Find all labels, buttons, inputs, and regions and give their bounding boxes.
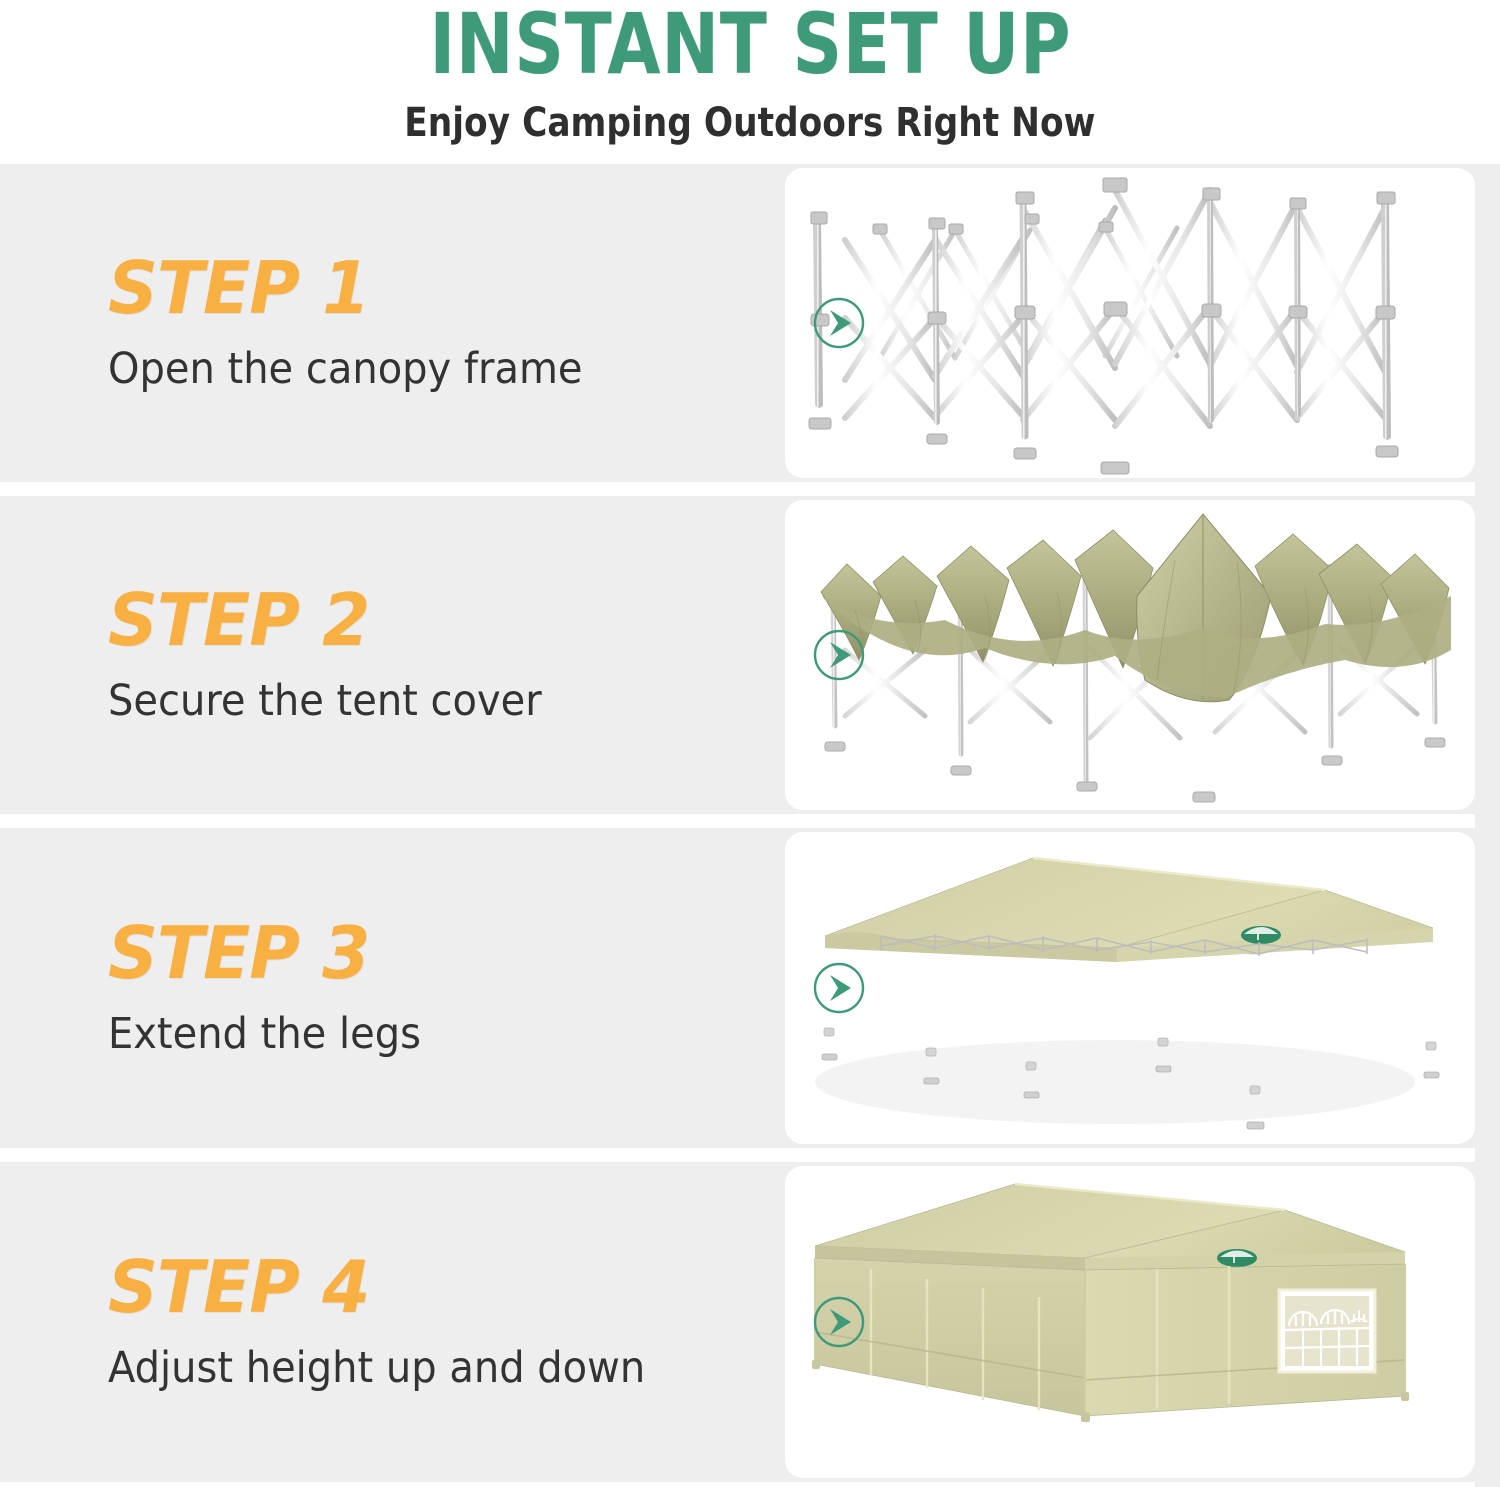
step-3-label: STEP 3: [108, 916, 758, 990]
header: INSTANT SET UP Enjoy Camping Outdoors Ri…: [0, 0, 1500, 164]
canopy-legs-extended-photo: [785, 832, 1475, 1144]
step-3-text: STEP 3 Extend the legs: [0, 916, 785, 1060]
canopy-frame-collapsed-photo: [785, 168, 1475, 478]
step-row-4: STEP 4 Adjust height up and down: [0, 1162, 1500, 1482]
step-1-description: Open the canopy frame: [108, 343, 738, 395]
step-2-image-card: [785, 500, 1475, 810]
step-4-text: STEP 4 Adjust height up and down: [0, 1250, 785, 1394]
step-2-description: Secure the tent cover: [108, 675, 738, 727]
step-4-arrow-icon-wrapper: [813, 1296, 865, 1348]
step-3-description: Extend the legs: [108, 1008, 738, 1060]
page-title: INSTANT SET UP: [429, 2, 1071, 86]
steps-list: STEP 1 Open the canopy frame: [0, 164, 1500, 1482]
right-edge-strip: [1475, 164, 1500, 1487]
step-1-label: STEP 1: [108, 251, 758, 325]
step-4-image-card: [785, 1166, 1475, 1478]
canopy-cover-draped-photo: [785, 500, 1475, 810]
step-row-2: STEP 2 Secure the tent cover: [0, 496, 1500, 814]
chevron-right-circle-icon: [813, 297, 865, 349]
step-1-image-card: [785, 168, 1475, 478]
step-row-1: STEP 1 Open the canopy frame: [0, 164, 1500, 482]
step-1-text: STEP 1 Open the canopy frame: [0, 251, 785, 395]
step-row-3: STEP 3 Extend the legs: [0, 828, 1500, 1148]
chevron-right-circle-icon: [813, 962, 865, 1014]
page-subtitle: Enjoy Camping Outdoors Right Now: [404, 100, 1095, 146]
step-3-arrow-icon-wrapper: [813, 962, 865, 1014]
step-2-text: STEP 2 Secure the tent cover: [0, 583, 785, 727]
step-2-label: STEP 2: [108, 583, 758, 657]
brand-logo-badge: [1241, 926, 1281, 944]
chevron-right-circle-icon: [813, 1296, 865, 1348]
step-1-arrow-icon-wrapper: [813, 297, 865, 349]
step-4-label: STEP 4: [108, 1250, 758, 1324]
brand-logo-badge: [1217, 1249, 1257, 1267]
sidewall-window-panel: [1279, 1290, 1375, 1372]
step-2-arrow-icon-wrapper: [813, 629, 865, 681]
chevron-right-circle-icon: [813, 629, 865, 681]
step-3-image-card: [785, 832, 1475, 1144]
canopy-with-sidewalls-photo: [785, 1166, 1475, 1478]
step-4-description: Adjust height up and down: [108, 1342, 738, 1394]
